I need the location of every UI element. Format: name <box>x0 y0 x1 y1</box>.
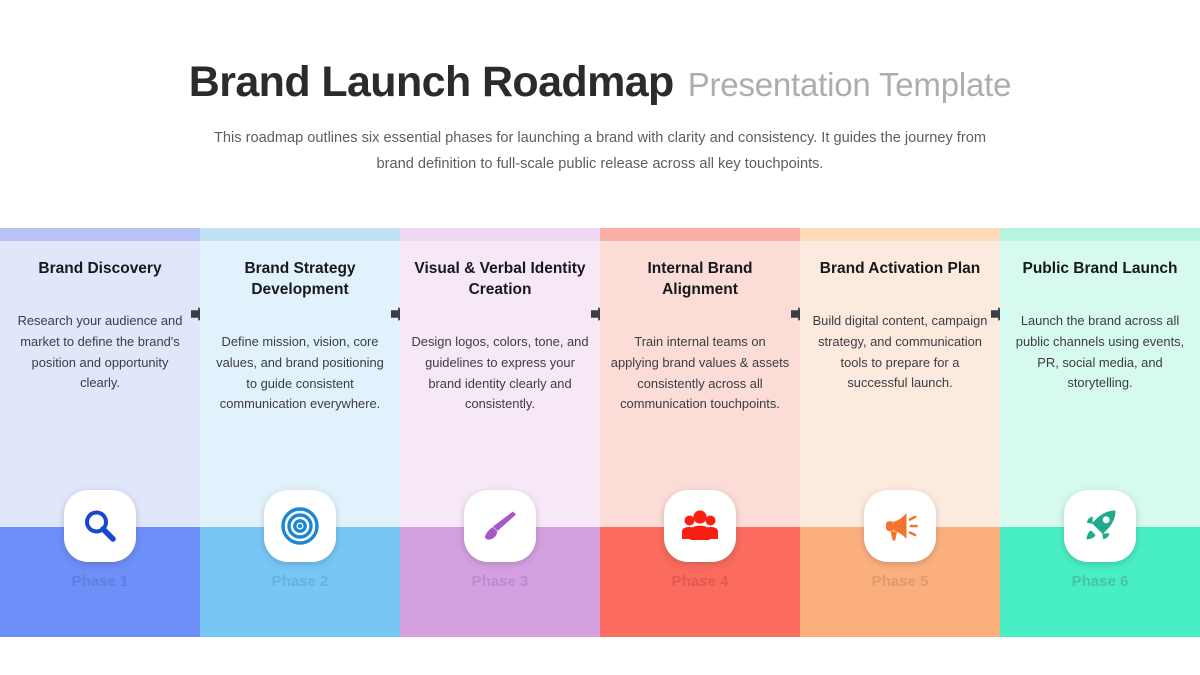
phase-title: Public Brand Launch <box>1013 258 1188 279</box>
phase-description: Train internal teams on applying brand v… <box>610 332 790 415</box>
phase-column-3[interactable]: Visual & Verbal Identity CreationDesign … <box>400 228 600 637</box>
arrow-right-icon <box>589 304 600 324</box>
phase-icon-tile[interactable] <box>1064 490 1136 562</box>
arrow-right-icon <box>389 304 400 324</box>
title-subtitle: Presentation Template <box>688 66 1012 104</box>
phase-column-2[interactable]: Brand Strategy DevelopmentDefine mission… <box>200 228 400 637</box>
phase-column-4[interactable]: Internal Brand AlignmentTrain internal t… <box>600 228 800 637</box>
phase-icon-tile[interactable] <box>64 490 136 562</box>
page-title: Brand Launch Roadmap Presentation Templa… <box>0 58 1200 107</box>
phase-label: Phase 2 <box>200 573 400 590</box>
megaphone-icon <box>864 490 936 562</box>
phase-description: Build digital content, campaign strategy… <box>810 311 990 394</box>
phase-icon-tile[interactable] <box>664 490 736 562</box>
phase-title: Brand Discovery <box>13 258 188 279</box>
phase-label: Phase 5 <box>800 573 1000 590</box>
phase-column-6[interactable]: Public Brand LaunchLaunch the brand acro… <box>1000 228 1200 637</box>
people-group-icon <box>664 490 736 562</box>
phase-title: Internal Brand Alignment <box>613 258 788 300</box>
phase-description: Define mission, vision, core values, and… <box>210 332 390 415</box>
title-main: Brand Launch Roadmap <box>189 58 674 107</box>
intro-paragraph: This roadmap outlines six essential phas… <box>205 125 995 177</box>
phase-title: Brand Strategy Development <box>213 258 388 300</box>
phase-icon-tile[interactable] <box>264 490 336 562</box>
phase-label: Phase 1 <box>0 573 200 590</box>
arrow-right-icon <box>989 304 1000 324</box>
roadmap-columns: Brand DiscoveryResearch your audience an… <box>0 228 1200 637</box>
magnifier-icon <box>64 490 136 562</box>
phase-column-5[interactable]: Brand Activation PlanBuild digital conte… <box>800 228 1000 637</box>
phase-description: Launch the brand across all public chann… <box>1010 311 1190 394</box>
arrow-right-icon <box>189 304 200 324</box>
phase-label: Phase 4 <box>600 573 800 590</box>
rocket-icon <box>1064 490 1136 562</box>
phase-description: Design logos, colors, tone, and guidelin… <box>410 332 590 415</box>
phase-icon-tile[interactable] <box>464 490 536 562</box>
phase-icon-tile[interactable] <box>864 490 936 562</box>
phase-column-1[interactable]: Brand DiscoveryResearch your audience an… <box>0 228 200 637</box>
phase-description: Research your audience and market to def… <box>10 311 190 394</box>
phase-title: Visual & Verbal Identity Creation <box>413 258 588 300</box>
arrow-right-icon <box>789 304 800 324</box>
phase-label: Phase 3 <box>400 573 600 590</box>
phase-label: Phase 6 <box>1000 573 1200 590</box>
phase-title: Brand Activation Plan <box>813 258 988 279</box>
paintbrush-icon <box>464 490 536 562</box>
page-header: Brand Launch Roadmap Presentation Templa… <box>0 0 1200 177</box>
target-icon <box>264 490 336 562</box>
